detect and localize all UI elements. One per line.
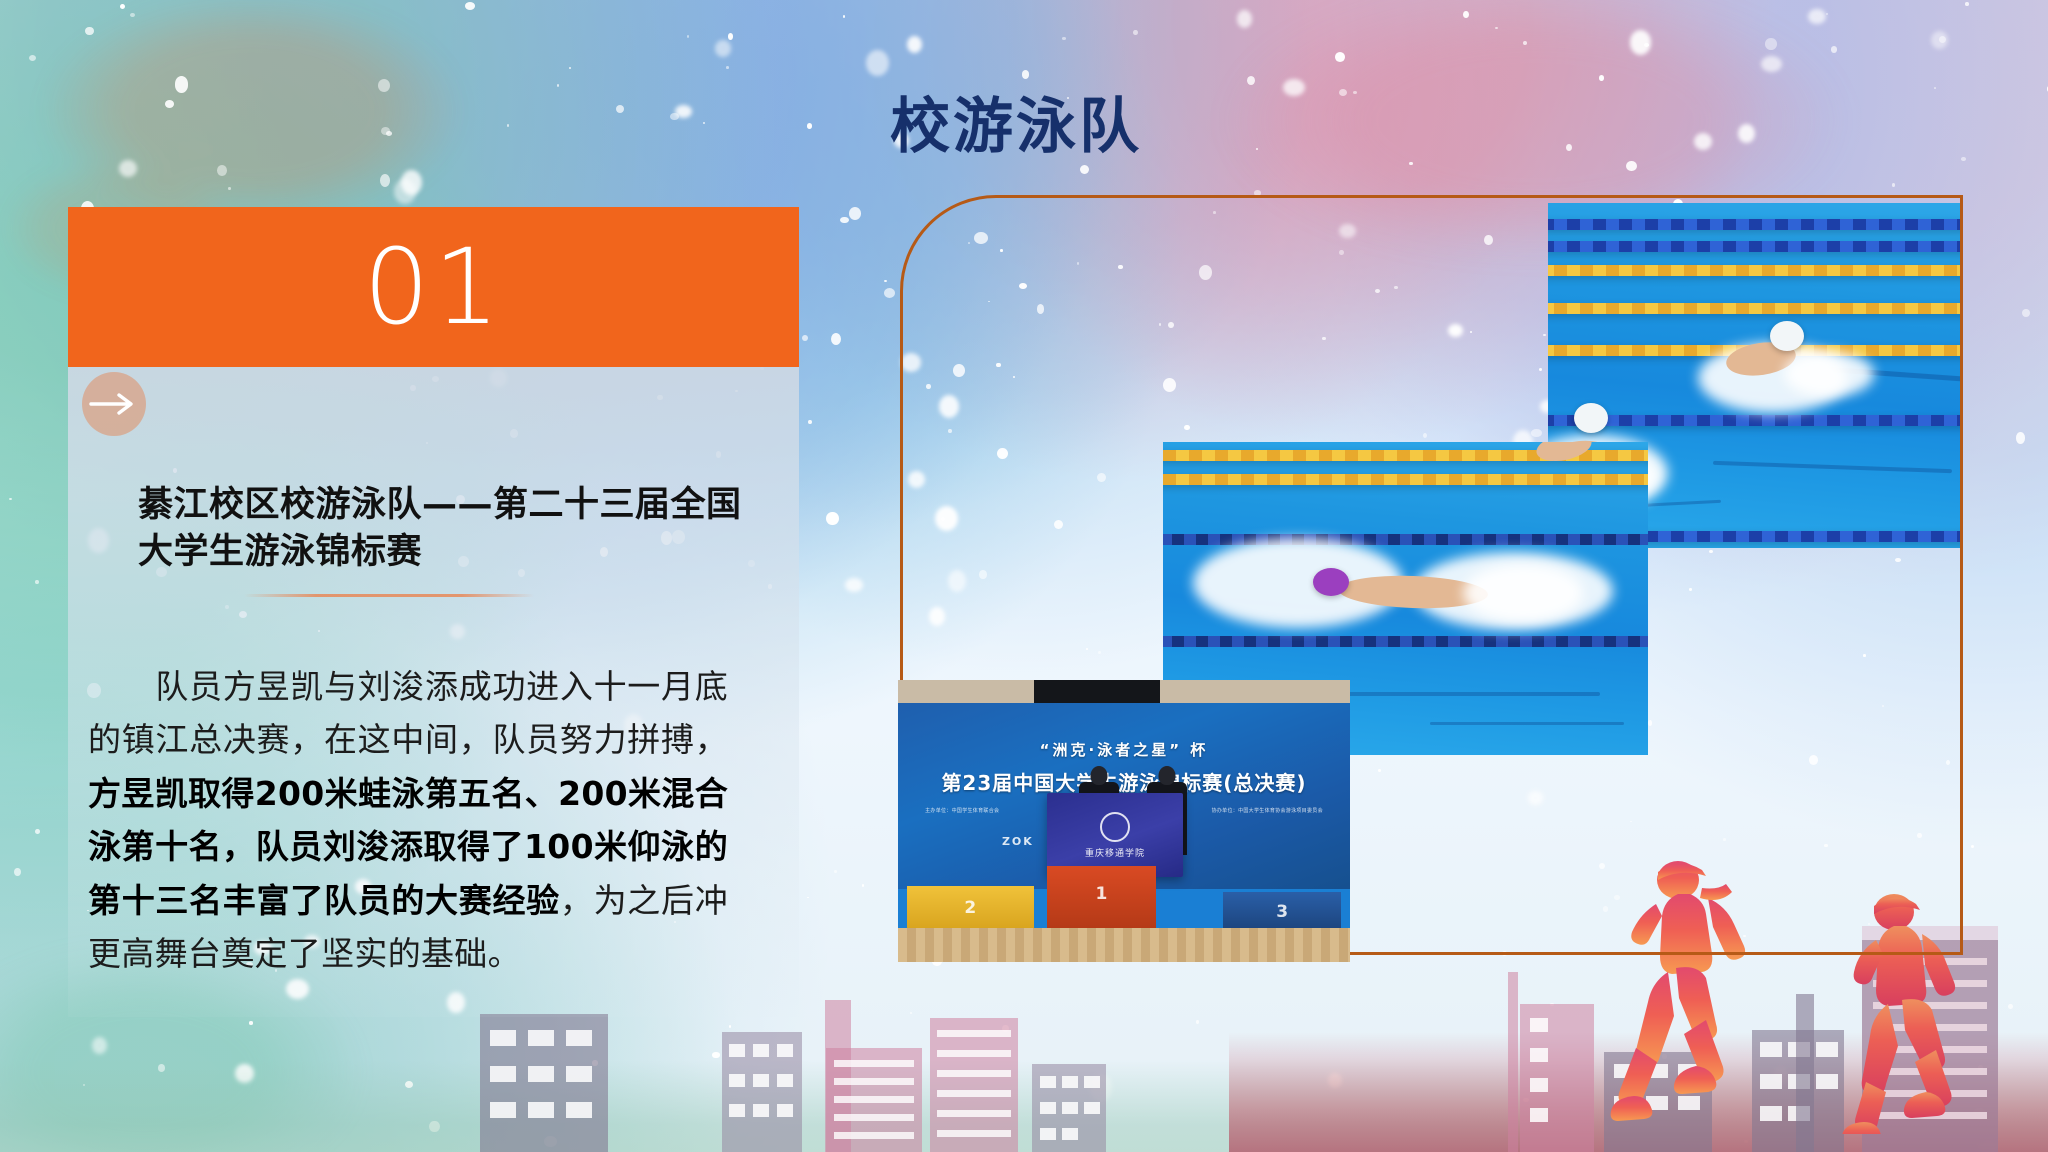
sponsor-left: 主办单位：中国学生体育联合会 xyxy=(925,807,999,814)
podium-block-1: 1 xyxy=(1047,866,1155,928)
lane-rope xyxy=(1548,265,1960,276)
photo-podium: “洲克·泳者之星” 杯 第23届中国大学生游泳锦标赛(总决赛) 主办单位：中国学… xyxy=(898,680,1350,962)
building xyxy=(1796,994,1814,1152)
swim-cap xyxy=(1313,568,1349,596)
podium-number-1: 1 xyxy=(1047,884,1155,904)
building xyxy=(1520,1004,1594,1152)
sponsor-right: 协办单位：中国大学生体育协会游泳项目委员会 xyxy=(1212,807,1323,814)
building xyxy=(722,1032,802,1152)
headline-text: 綦江校区校游泳队——第二十三届全国大学生游泳锦标赛 xyxy=(138,482,758,575)
pool-deck xyxy=(898,928,1350,962)
building xyxy=(1508,972,1518,1152)
building xyxy=(930,1018,1018,1152)
slide-canvas: 两名运动员蛙泳比赛 运动员自由泳比赛 “洲克·泳者之星” 杯 第23届中国大学生… xyxy=(0,0,2048,1152)
podium-number-3: 3 xyxy=(1223,902,1341,922)
team-flag: 重庆移通学院 xyxy=(1047,793,1183,878)
building xyxy=(480,1014,608,1152)
lane-rope xyxy=(1163,474,1648,485)
section-number: 01 xyxy=(363,235,503,339)
water-splash xyxy=(1463,564,1583,622)
podium-number-2: 2 xyxy=(907,898,1034,918)
paragraph-part-1: 队员方昱凯与刘浚添成功进入十一月底的镇江总决赛，在这中间，队员努力拼搏， xyxy=(88,667,728,759)
pool-tile-line xyxy=(1430,722,1624,725)
flag-emblem xyxy=(1100,812,1130,842)
section-number-box: 01 xyxy=(68,207,799,367)
headline-underline xyxy=(244,594,534,597)
lane-rope xyxy=(1163,636,1648,647)
building xyxy=(826,1048,922,1152)
flag-text: 重庆移通学院 xyxy=(1085,846,1145,859)
body-paragraph: 队员方昱凯与刘浚添成功进入十一月底的镇江总决赛，在这中间，队员努力拼搏，方昱凯取… xyxy=(88,660,728,981)
venue-ceiling-dark xyxy=(1034,680,1161,703)
lane-rope xyxy=(1163,534,1648,545)
page-title: 校游泳队 xyxy=(890,78,1142,165)
lane-rope xyxy=(1548,241,1960,252)
swim-cap xyxy=(1574,403,1608,433)
building xyxy=(1032,1064,1106,1152)
swim-cap xyxy=(1770,321,1804,351)
arrow-right-icon[interactable] xyxy=(82,372,146,436)
podium-block-2: 2 xyxy=(907,886,1034,928)
lane-rope xyxy=(1548,303,1960,314)
lane-rope xyxy=(1548,415,1960,426)
podium-block-3: 3 xyxy=(1223,892,1341,929)
brand-mark: ZOK xyxy=(1002,835,1034,848)
water-splash xyxy=(1784,351,1874,397)
banner-line-1: “洲克·泳者之星” 杯 xyxy=(898,739,1350,760)
